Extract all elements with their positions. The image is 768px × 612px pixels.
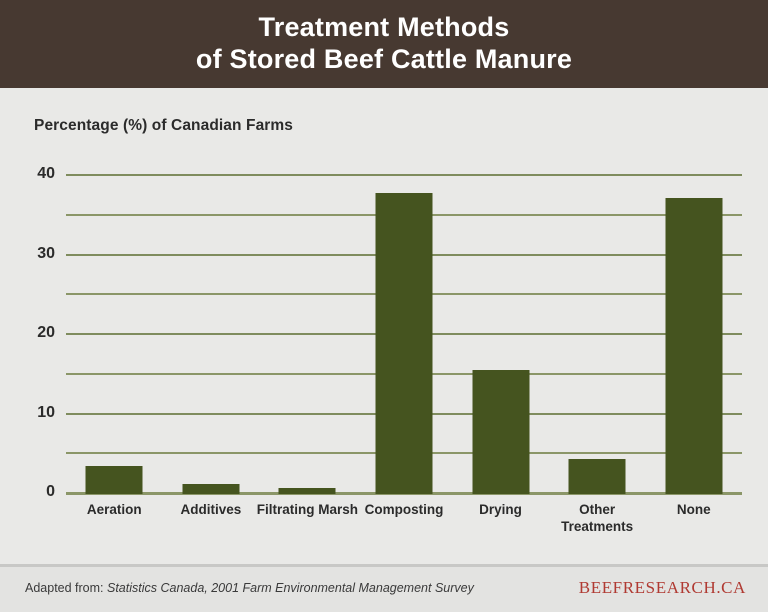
- chart-body: Percentage (%) of Canadian Farms 40 30 2…: [0, 88, 768, 564]
- xtick-label-none: None: [639, 502, 749, 519]
- xtick-label-filtrating-marsh: Filtrating Marsh: [252, 502, 362, 519]
- source-citation: Statistics Canada, 2001 Farm Environment…: [107, 581, 474, 595]
- bar-filtrating-marsh: [279, 488, 336, 494]
- source-prefix: Adapted from:: [25, 581, 107, 595]
- header-banner: Treatment Methods of Stored Beef Cattle …: [0, 0, 768, 88]
- ytick-label-30: 30: [37, 245, 55, 263]
- xtick-label-aeration: Aeration: [59, 502, 169, 519]
- title-line-1: Treatment Methods: [259, 12, 510, 42]
- title-line-2: of Stored Beef Cattle Manure: [196, 44, 572, 76]
- ytick-label-10: 10: [37, 404, 55, 422]
- bar-aeration: [86, 466, 143, 494]
- bar-series: [66, 176, 742, 494]
- ytick-label-20: 20: [37, 324, 55, 342]
- bar-other-treatments: [569, 459, 626, 494]
- xtick-label-drying: Drying: [446, 502, 556, 519]
- bar-none: [665, 198, 722, 494]
- bar-chart: 40 30 20 10 0: [0, 88, 768, 564]
- page-title: Treatment Methods of Stored Beef Cattle …: [196, 12, 572, 76]
- xtick-label-composting: Composting: [349, 502, 459, 519]
- beefresearch-logo: BEEFRESEARCH.CA: [579, 578, 746, 598]
- ytick-label-0: 0: [46, 483, 55, 501]
- footer-bar: Adapted from: Statistics Canada, 2001 Fa…: [0, 567, 768, 612]
- source-note: Adapted from: Statistics Canada, 2001 Fa…: [25, 581, 474, 595]
- bar-composting: [376, 193, 433, 494]
- xtick-label-additives: Additives: [156, 502, 266, 519]
- xtick-label-other-treatments: Other Treatments: [542, 502, 652, 536]
- x-axis-labels: AerationAdditivesFiltrating MarshCompost…: [66, 502, 742, 558]
- bar-additives: [182, 484, 239, 494]
- ytick-label-40: 40: [37, 165, 55, 183]
- bar-drying: [472, 370, 529, 494]
- infographic-chart-page: Treatment Methods of Stored Beef Cattle …: [0, 0, 768, 612]
